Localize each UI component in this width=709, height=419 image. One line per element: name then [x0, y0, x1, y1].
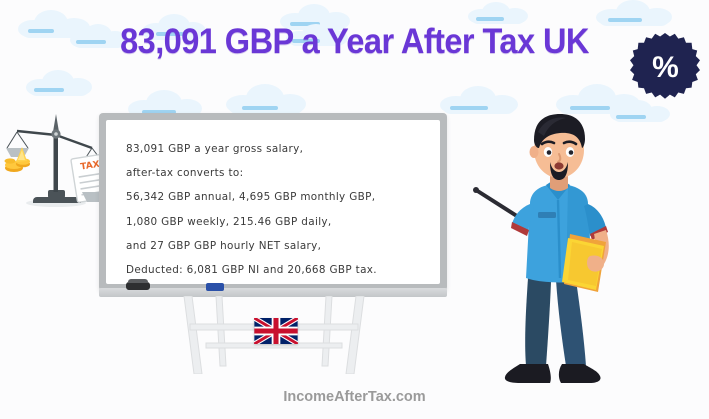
cloud-decoration [468, 2, 528, 24]
eraser-icon [126, 282, 150, 290]
marker-icon [206, 283, 224, 291]
presenter-teacher-illustration [472, 92, 642, 389]
whiteboard-line: 83,091 GBP a year gross salary, [126, 137, 440, 161]
cloud-decoration [226, 84, 306, 114]
uk-flag [254, 318, 298, 344]
poster-canvas: 83,091 GBP a Year After Tax UK % [0, 0, 709, 419]
balance-scale-illustration: TAX [4, 104, 108, 208]
whiteboard-line: 1,080 GBP weekly, 215.46 GBP daily, [126, 210, 440, 234]
whiteboard: 83,091 GBP a year gross salary, after-ta… [99, 113, 447, 291]
whiteboard-line: Deducted: 6,081 GBP NI and 20,668 GBP ta… [126, 258, 440, 282]
footer-watermark: IncomeAfterTax.com [0, 389, 709, 405]
cloud-decoration [26, 70, 92, 96]
whiteboard-line: 56,342 GBP annual, 4,695 GBP monthly GBP… [126, 185, 440, 209]
page-title: 83,091 GBP a Year After Tax UK [25, 22, 684, 62]
pointer-stick [473, 187, 520, 218]
whiteboard-line: after-tax converts to: [126, 161, 440, 185]
whiteboard-surface: 83,091 GBP a year gross salary, after-ta… [106, 120, 440, 284]
whiteboard-line: and 27 GBP GBP hourly NET salary, [126, 234, 440, 258]
